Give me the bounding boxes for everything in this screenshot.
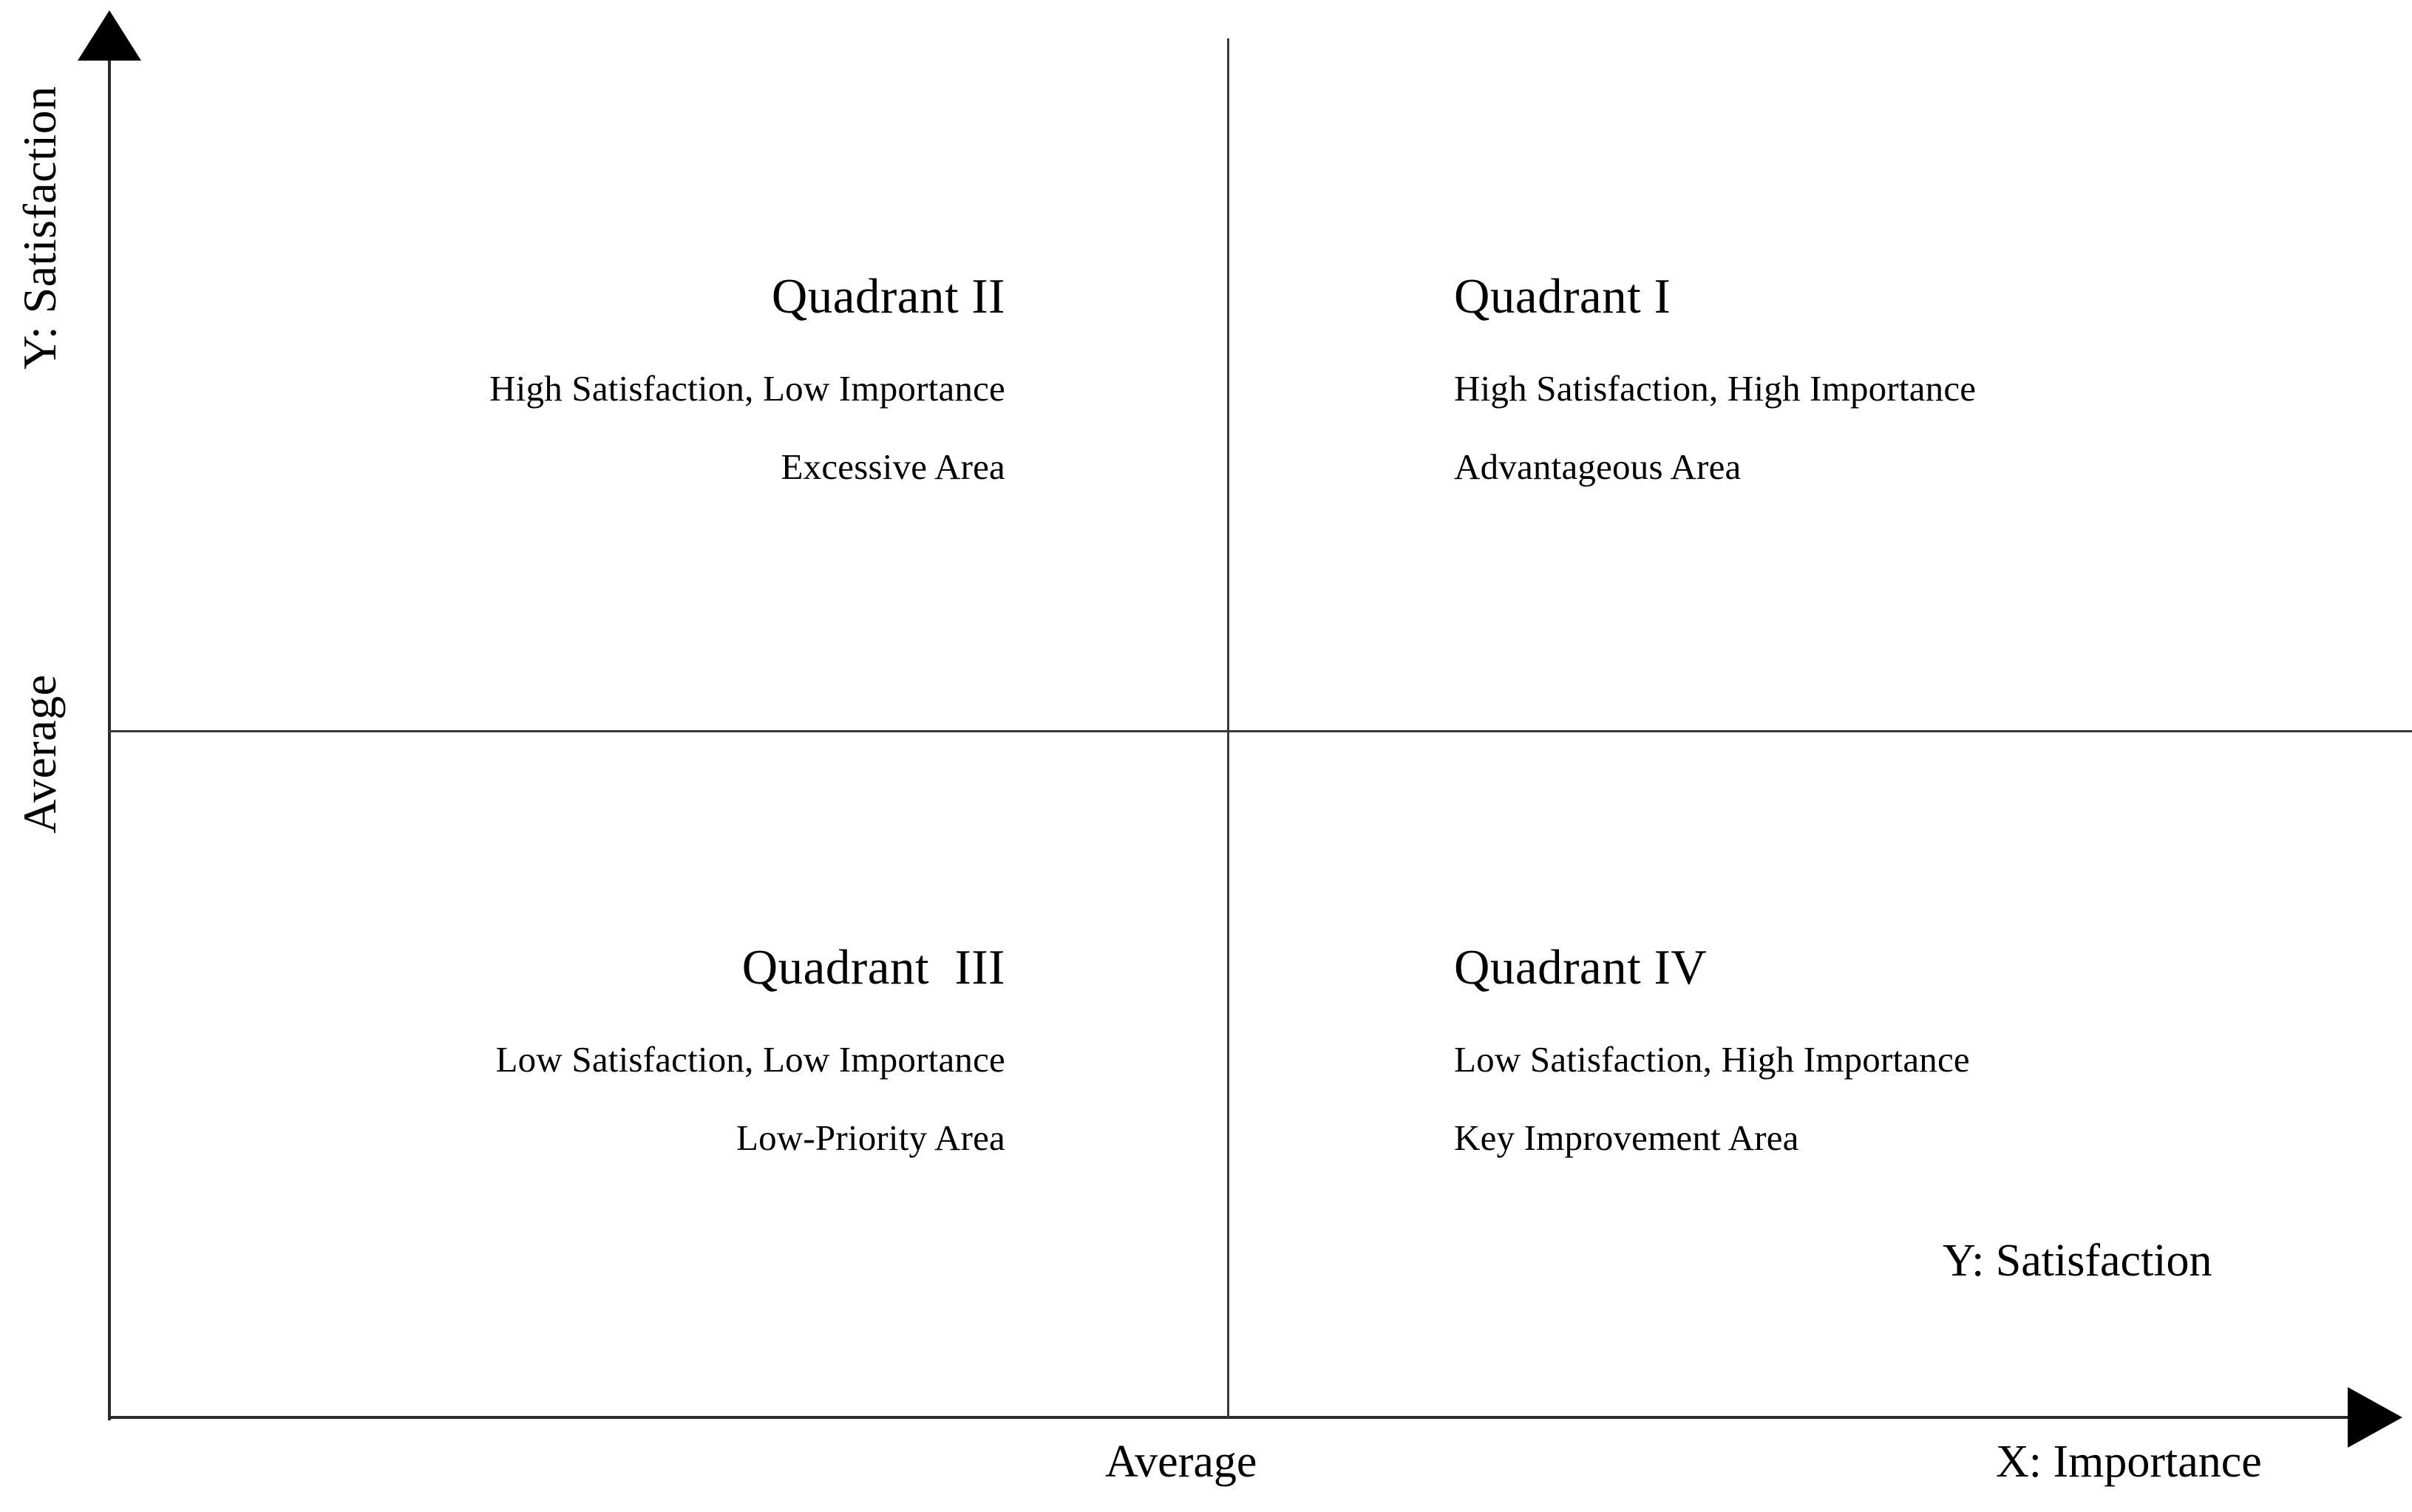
spacer bbox=[266, 321, 1005, 370]
spacer bbox=[266, 406, 1005, 449]
quadrant-1-title: Quadrant I bbox=[1454, 272, 2341, 321]
quadrant-1-area-label: Advantageous Area bbox=[1454, 449, 2341, 485]
x-axis-average-label: Average bbox=[1105, 1439, 1257, 1485]
x-axis-arrowhead-icon bbox=[2348, 1387, 2402, 1448]
horizontal-average-divider bbox=[108, 730, 2412, 732]
quadrant-2-area-label: Excessive Area bbox=[266, 449, 1005, 485]
y-axis-line bbox=[108, 55, 111, 1420]
quadrant-matrix-diagram: Y: Satisfaction Average Quadrant II High… bbox=[0, 0, 2412, 1512]
quadrant-1-description: High Satisfaction, High Importance bbox=[1454, 370, 2341, 406]
quadrant-2-description: High Satisfaction, Low Importance bbox=[266, 370, 1005, 406]
x-axis-title: X: Importance bbox=[1996, 1439, 2262, 1485]
y-axis-average-label: Average bbox=[16, 675, 64, 834]
quadrant-4-block: Quadrant IV Low Satisfaction, High Impor… bbox=[1454, 943, 2341, 1156]
quadrant-2-block: Quadrant II High Satisfaction, Low Impor… bbox=[266, 272, 1005, 485]
quadrant-1-block: Quadrant I High Satisfaction, High Impor… bbox=[1454, 272, 2341, 485]
quadrant-4-description: Low Satisfaction, High Importance bbox=[1454, 1041, 2341, 1077]
y-axis-title: Y: Satisfaction bbox=[16, 86, 64, 370]
spacer bbox=[1454, 992, 2341, 1041]
x-axis-line bbox=[108, 1416, 2354, 1419]
spacer bbox=[1454, 1077, 2341, 1120]
y-axis-arrowhead-icon bbox=[78, 10, 141, 61]
quadrant-3-description: Low Satisfaction, Low Importance bbox=[266, 1041, 1005, 1077]
quadrant-3-title: Quadrant III bbox=[266, 943, 1005, 992]
vertical-average-divider bbox=[1227, 38, 1229, 1417]
spacer bbox=[266, 992, 1005, 1041]
quadrant-4-area-label: Key Improvement Area bbox=[1454, 1120, 2341, 1156]
spacer bbox=[266, 1077, 1005, 1120]
quadrant-3-block: Quadrant III Low Satisfaction, Low Impor… bbox=[266, 943, 1005, 1156]
quadrant-3-area-label: Low-Priority Area bbox=[266, 1120, 1005, 1156]
inner-y-satisfaction-annotation: Y: Satisfaction bbox=[1943, 1238, 2212, 1284]
spacer bbox=[1454, 321, 2341, 370]
spacer bbox=[1454, 406, 2341, 449]
quadrant-2-title: Quadrant II bbox=[266, 272, 1005, 321]
quadrant-4-title: Quadrant IV bbox=[1454, 943, 2341, 992]
